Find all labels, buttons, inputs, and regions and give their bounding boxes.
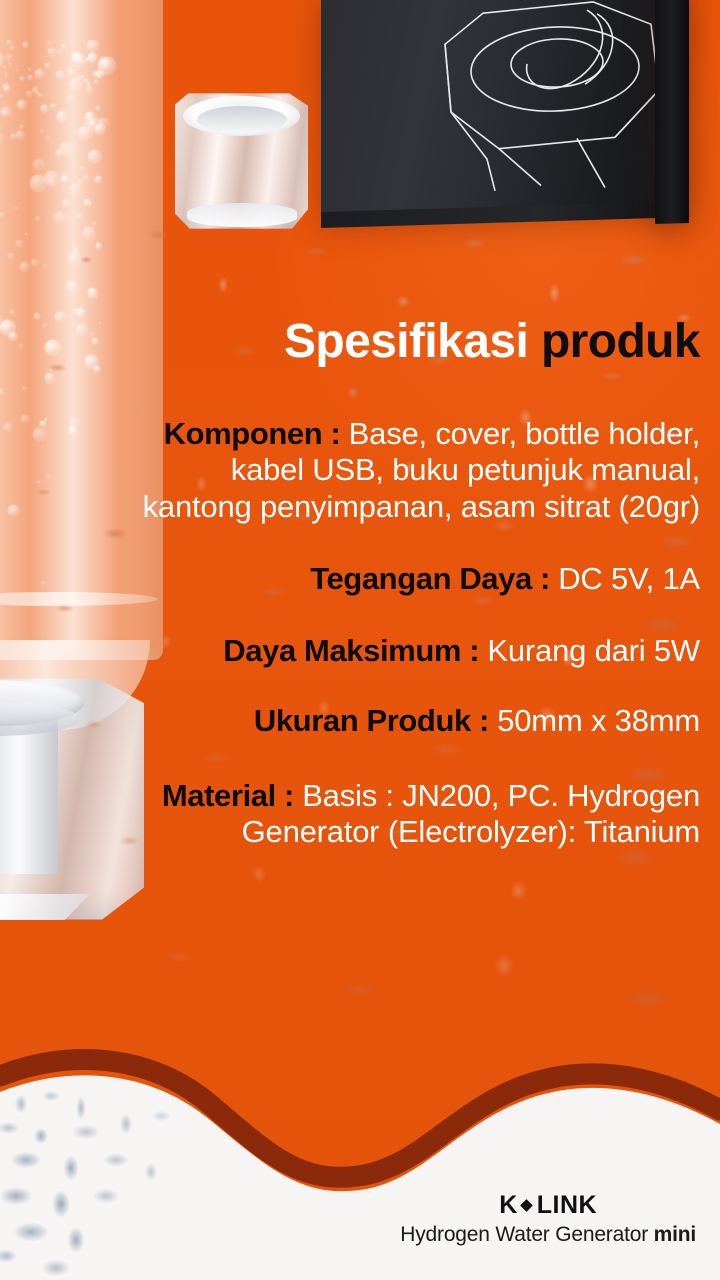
logo-word-link: LINK <box>537 1193 597 1218</box>
water-splash-image <box>0 1080 236 1280</box>
spec-item-tegangan-daya: Tegangan Daya : DC 5V, 1A <box>140 561 700 597</box>
title-part-white: Spesifikasi <box>284 315 528 368</box>
spec-label: Komponen <box>164 416 323 451</box>
tagline-regular: Hydrogen Water Generator <box>400 1223 653 1246</box>
spec-value: 50mm x 38mm <box>497 703 700 738</box>
logo-letter-k: K <box>499 1193 518 1218</box>
footer: K LINK Hydrogen Water Generator mini <box>0 984 720 1280</box>
specification-list: Komponen : Base, cover, bottle holder, k… <box>140 416 700 850</box>
spec-item-komponen: Komponen : Base, cover, bottle holder, k… <box>140 416 700 525</box>
brand-lockup: K LINK Hydrogen Water Generator mini <box>400 1193 696 1246</box>
spec-separator: : <box>461 633 487 668</box>
diamond-icon <box>520 1199 533 1212</box>
spec-value: Basis : JN200, PC. Hydrogen Generator (E… <box>242 778 700 849</box>
spec-label: Daya Maksimum <box>223 633 461 668</box>
tagline-bold: mini <box>654 1223 696 1246</box>
klink-logo: K LINK <box>400 1193 696 1218</box>
spec-label: Tegangan Daya <box>310 561 532 596</box>
spec-label: Ukuran Produk <box>254 703 471 738</box>
spec-label: Material <box>162 778 276 813</box>
box-lineart-icon <box>437 0 677 197</box>
cup-well <box>197 106 287 133</box>
spec-item-daya-maksimum: Daya Maksimum : Kurang dari 5W <box>140 633 700 669</box>
spec-separator: : <box>322 416 348 451</box>
spec-value: Kurang dari 5W <box>487 633 700 668</box>
spec-separator: : <box>532 561 558 596</box>
spec-value: DC 5V, 1A <box>558 561 700 596</box>
brand-tagline: Hydrogen Water Generator mini <box>400 1223 696 1246</box>
page-title: Spesifikasi produk <box>284 318 700 366</box>
spec-item-ukuran-produk: Ukuran Produk : 50mm x 38mm <box>140 703 700 739</box>
title-part-black: produk <box>541 315 700 368</box>
spec-separator: : <box>471 703 497 738</box>
product-box-spine <box>655 0 689 224</box>
product-box-image <box>321 0 686 218</box>
spec-separator: : <box>276 778 302 813</box>
product-spec-poster: Spesifikasi produk Komponen : Base, cove… <box>0 0 720 1280</box>
spec-item-material: Material : Basis : JN200, PC. Hydrogen G… <box>140 778 700 851</box>
